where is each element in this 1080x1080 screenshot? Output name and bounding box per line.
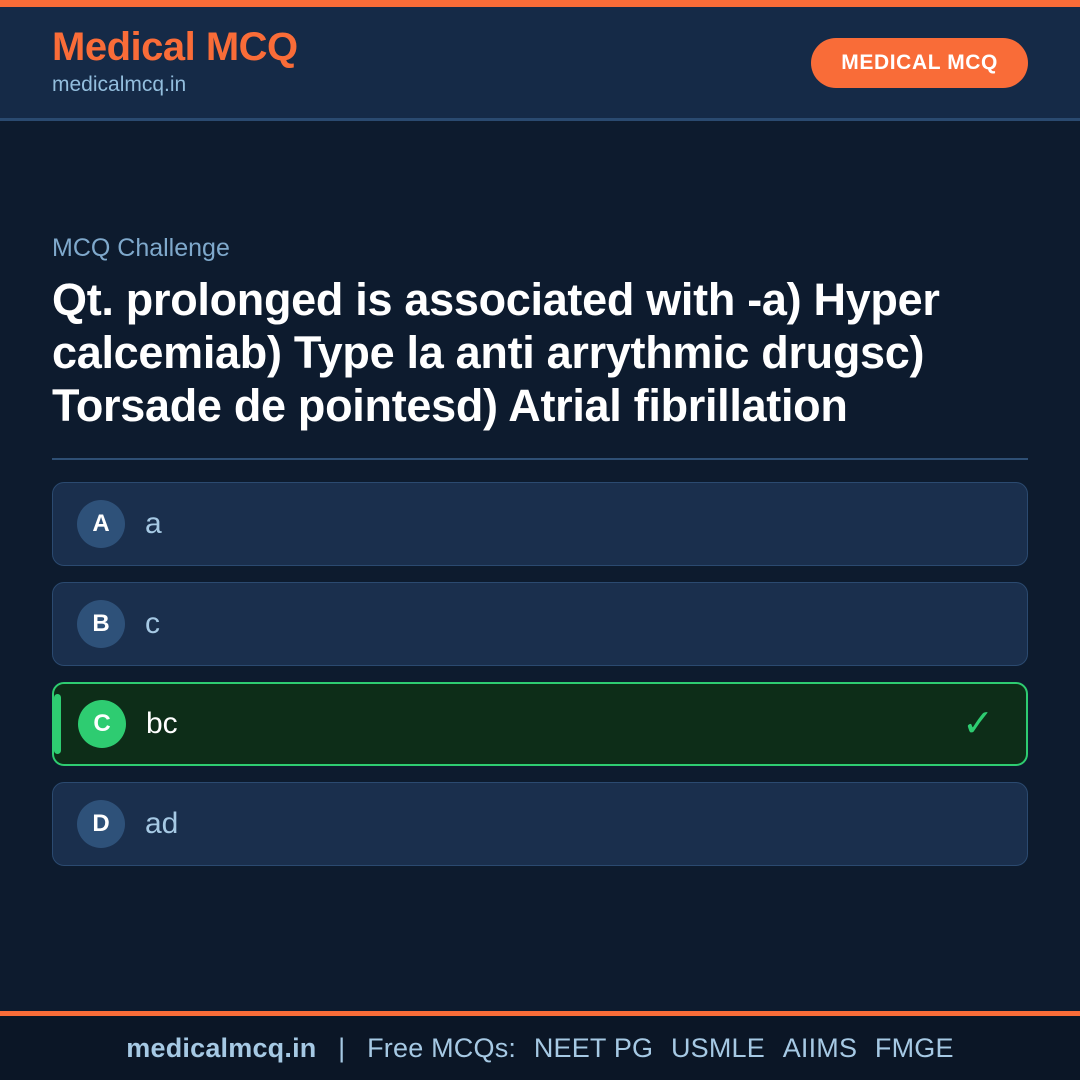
footer-exam-aiims[interactable]: AIIMS	[783, 1033, 858, 1063]
mcq-card: Medical MCQ medicalmcq.in MEDICAL MCQ MC…	[0, 0, 1080, 1080]
brand-title: Medical MCQ	[52, 26, 298, 69]
question-divider	[52, 458, 1028, 460]
footer-exam-usmle[interactable]: USMLE	[671, 1033, 765, 1063]
option-text-d: ad	[145, 806, 959, 842]
option-row-a[interactable]: A a	[52, 482, 1028, 566]
top-accent-bar	[0, 0, 1080, 7]
option-text-b: c	[145, 606, 959, 642]
question-text: Qt. prolonged is associated with -a) Hyp…	[52, 273, 1028, 432]
option-letter-d: D	[77, 800, 125, 848]
options-list: A a B c C bc ✓ D ad	[52, 482, 1028, 866]
option-row-b[interactable]: B c	[52, 582, 1028, 666]
footer-separator: |	[338, 1033, 345, 1063]
main-content: MCQ Challenge Qt. prolonged is associate…	[0, 121, 1080, 1011]
section-kicker: MCQ Challenge	[52, 233, 1028, 263]
footer-text: medicalmcq.in | Free MCQs: NEET PG USMLE…	[126, 1033, 953, 1064]
option-letter-a: A	[77, 500, 125, 548]
brand-block: Medical MCQ medicalmcq.in	[52, 26, 298, 98]
footer-bar: medicalmcq.in | Free MCQs: NEET PG USMLE…	[0, 1011, 1080, 1080]
option-text-a: a	[145, 506, 959, 542]
footer-prefix: Free MCQs:	[367, 1033, 516, 1063]
option-letter-c: C	[78, 700, 126, 748]
option-text-c: bc	[146, 706, 958, 742]
footer-site-link[interactable]: medicalmcq.in	[126, 1033, 316, 1063]
option-row-d[interactable]: D ad	[52, 782, 1028, 866]
footer-exam-fmge[interactable]: FMGE	[875, 1033, 954, 1063]
option-letter-b: B	[77, 600, 125, 648]
brand-subtitle: medicalmcq.in	[52, 71, 298, 98]
footer-exam-neet-pg[interactable]: NEET PG	[534, 1033, 653, 1063]
check-icon-c: ✓	[958, 705, 998, 743]
footer-exam-list: NEET PG USMLE AIIMS FMGE	[524, 1033, 954, 1063]
header-bar: Medical MCQ medicalmcq.in MEDICAL MCQ	[0, 7, 1080, 121]
brand-badge: MEDICAL MCQ	[811, 38, 1028, 88]
option-row-c[interactable]: C bc ✓	[52, 682, 1028, 766]
